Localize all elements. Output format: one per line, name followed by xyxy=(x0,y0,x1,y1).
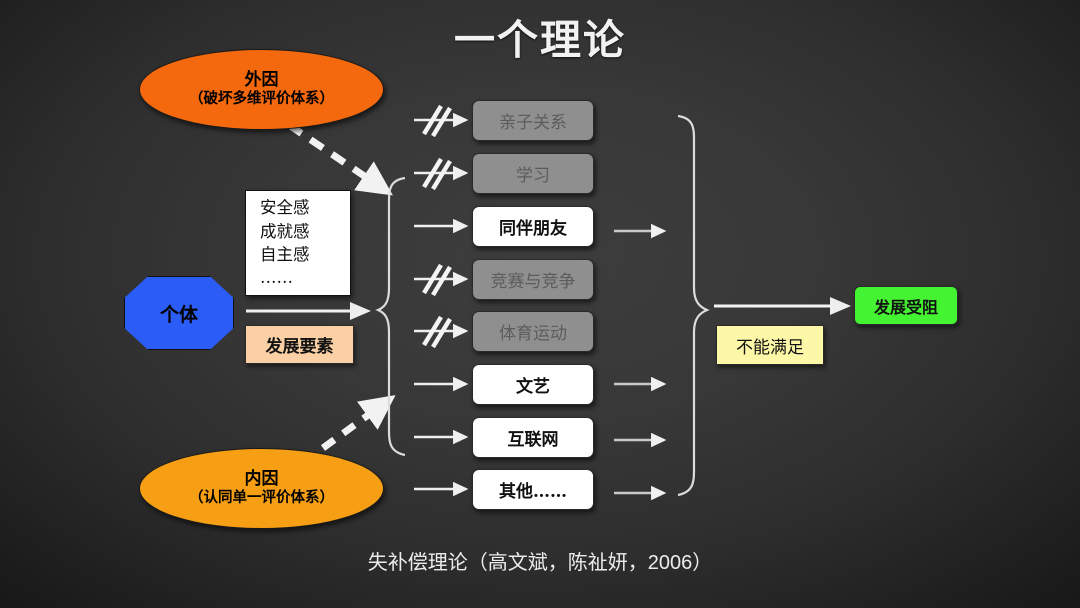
domain-box-0[interactable]: 亲子关系 xyxy=(472,100,594,141)
domain-label: 其他…… xyxy=(499,477,567,502)
domain-outgoing-arrows xyxy=(614,231,664,493)
need-item: 安全感 xyxy=(260,196,350,219)
domain-box-3[interactable]: 竞赛与竞争 xyxy=(472,259,594,300)
domain-label: 同伴朋友 xyxy=(499,214,567,239)
blocked-slash-marks xyxy=(424,106,450,347)
domain-label: 亲子关系 xyxy=(499,108,567,133)
external-cause-label: 外因 xyxy=(245,70,279,90)
node-external-cause[interactable]: 外因 （破坏多维评价体系） xyxy=(139,49,384,130)
domain-box-5[interactable]: 文艺 xyxy=(472,364,594,405)
domain-label: 互联网 xyxy=(508,425,559,450)
node-individual[interactable]: 个体 xyxy=(124,276,234,350)
domain-box-2[interactable]: 同伴朋友 xyxy=(472,206,594,247)
development-factors-label: 发展要素 xyxy=(266,332,334,357)
slide-canvas: 一个理论 xyxy=(0,0,1080,608)
node-development-factors[interactable]: 发展要素 xyxy=(245,325,354,364)
node-needs-list: 安全感 成就感 自主感 …… xyxy=(245,190,351,296)
node-internal-cause[interactable]: 内因 （认同单一评价体系） xyxy=(139,448,384,529)
source-caption: 失补偿理论（高文斌，陈祉妍，2006） xyxy=(0,546,1080,575)
connector-external-to-factors xyxy=(289,125,379,186)
blocked-outcome-label: 发展受阻 xyxy=(874,294,938,318)
internal-cause-label: 内因 xyxy=(245,469,279,489)
need-item: 自主感 xyxy=(260,243,350,266)
individual-label: 个体 xyxy=(160,300,198,327)
need-item: 成就感 xyxy=(260,220,350,243)
domain-label: 竞赛与竞争 xyxy=(491,267,576,292)
domain-box-4[interactable]: 体育运动 xyxy=(472,311,594,352)
domain-box-7[interactable]: 其他…… xyxy=(472,469,594,510)
internal-cause-sublabel: （认同单一评价体系） xyxy=(189,489,334,508)
node-blocked-outcome[interactable]: 发展受阻 xyxy=(854,286,958,325)
external-cause-sublabel: （破坏多维评价体系） xyxy=(189,90,334,109)
domain-incoming-arrows xyxy=(414,120,466,489)
need-item: …… xyxy=(260,266,350,289)
right-brace xyxy=(678,116,707,495)
unmet-label: 不能满足 xyxy=(736,333,804,358)
domain-label: 学习 xyxy=(516,161,550,186)
domain-label: 体育运动 xyxy=(499,319,567,344)
domain-box-1[interactable]: 学习 xyxy=(472,153,594,194)
page-title: 一个理论 xyxy=(0,6,1080,66)
node-unmet[interactable]: 不能满足 xyxy=(716,325,824,365)
connector-internal-to-factors xyxy=(323,405,382,448)
left-brace xyxy=(378,178,405,455)
domain-label: 文艺 xyxy=(516,372,550,397)
domain-box-6[interactable]: 互联网 xyxy=(472,417,594,458)
